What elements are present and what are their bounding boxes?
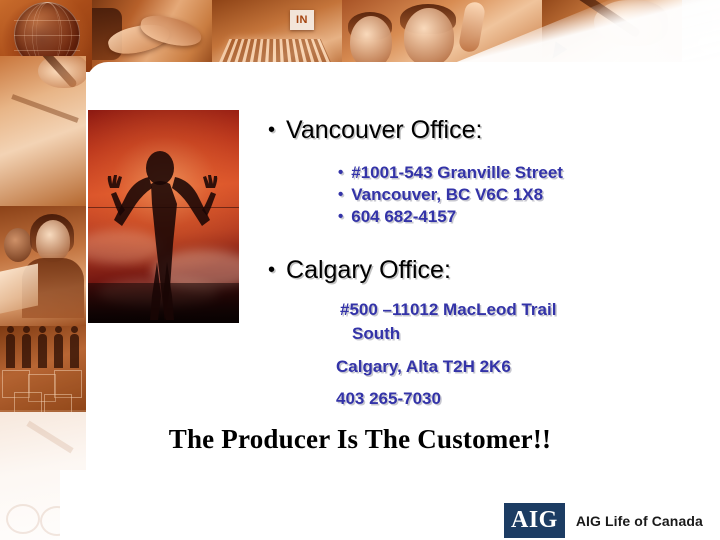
vancouver-office-heading-label: Vancouver Office: xyxy=(286,116,482,144)
calgary-phone-line: 403 265-7030 xyxy=(336,389,441,409)
presentation-slide: IN IN xyxy=(0,0,720,540)
bullet-icon: • xyxy=(268,259,275,281)
left-frame-puzzle-people-photo xyxy=(0,326,86,412)
aig-logo: AIG AIG Life of Canada xyxy=(504,503,703,538)
vancouver-address-line-2-label: Vancouver, BC V6C 1X8 xyxy=(351,185,543,204)
left-frame-call-center-woman-photo xyxy=(0,206,86,326)
person-silhouette-icon xyxy=(88,110,239,323)
bullet-icon: • xyxy=(338,186,343,203)
calgary-office-heading: •Calgary Office: xyxy=(268,256,451,285)
banner-frame-smiling-people-photo xyxy=(342,0,542,72)
vancouver-address-line-1-label: #1001-543 Granville Street xyxy=(351,163,563,182)
silhouette-arms-raised-sunset-photo xyxy=(88,110,239,323)
vancouver-address-line-1: •#1001-543 Granville Street xyxy=(338,163,563,183)
banner-diagonal-sweep xyxy=(398,0,720,86)
calgary-address-line-3: Calgary, Alta T2H 2K6 xyxy=(336,357,511,377)
vancouver-office-heading: •Vancouver Office: xyxy=(268,116,482,145)
left-photo-column xyxy=(0,0,86,540)
vancouver-address-line-2: •Vancouver, BC V6C 1X8 xyxy=(338,185,543,205)
bullet-icon: • xyxy=(268,119,275,141)
banner-frame-handshake-photo xyxy=(92,0,212,72)
banner-frame-globe-photo xyxy=(0,0,92,72)
aig-logo-mark: AIG xyxy=(504,503,565,538)
bullet-icon: • xyxy=(338,208,343,225)
banner-frame-building-in-sign-photo: IN xyxy=(212,0,342,72)
calgary-address-line-1: #500 –11012 MacLeod Trail xyxy=(340,300,556,320)
calgary-address-line-2: South xyxy=(352,324,400,344)
aig-logo-text: AIG Life of Canada xyxy=(576,513,703,529)
in-sign-label: IN xyxy=(290,10,314,30)
bullet-icon: • xyxy=(338,164,343,181)
calgary-office-heading-label: Calgary Office: xyxy=(286,256,451,284)
banner-filmstrip: IN IN xyxy=(0,0,720,72)
globe-icon xyxy=(14,2,80,68)
slide-tagline: The Producer Is The Customer!! xyxy=(0,424,720,455)
vancouver-phone-line: •604 682-4157 xyxy=(338,207,456,227)
vancouver-phone-label: 604 682-4157 xyxy=(351,207,456,226)
left-frame-pen-paper-photo xyxy=(0,56,86,206)
banner-frame-hand-writing-pen-photo xyxy=(542,0,682,72)
banner-frame-handshake-photo-faded xyxy=(682,0,720,72)
